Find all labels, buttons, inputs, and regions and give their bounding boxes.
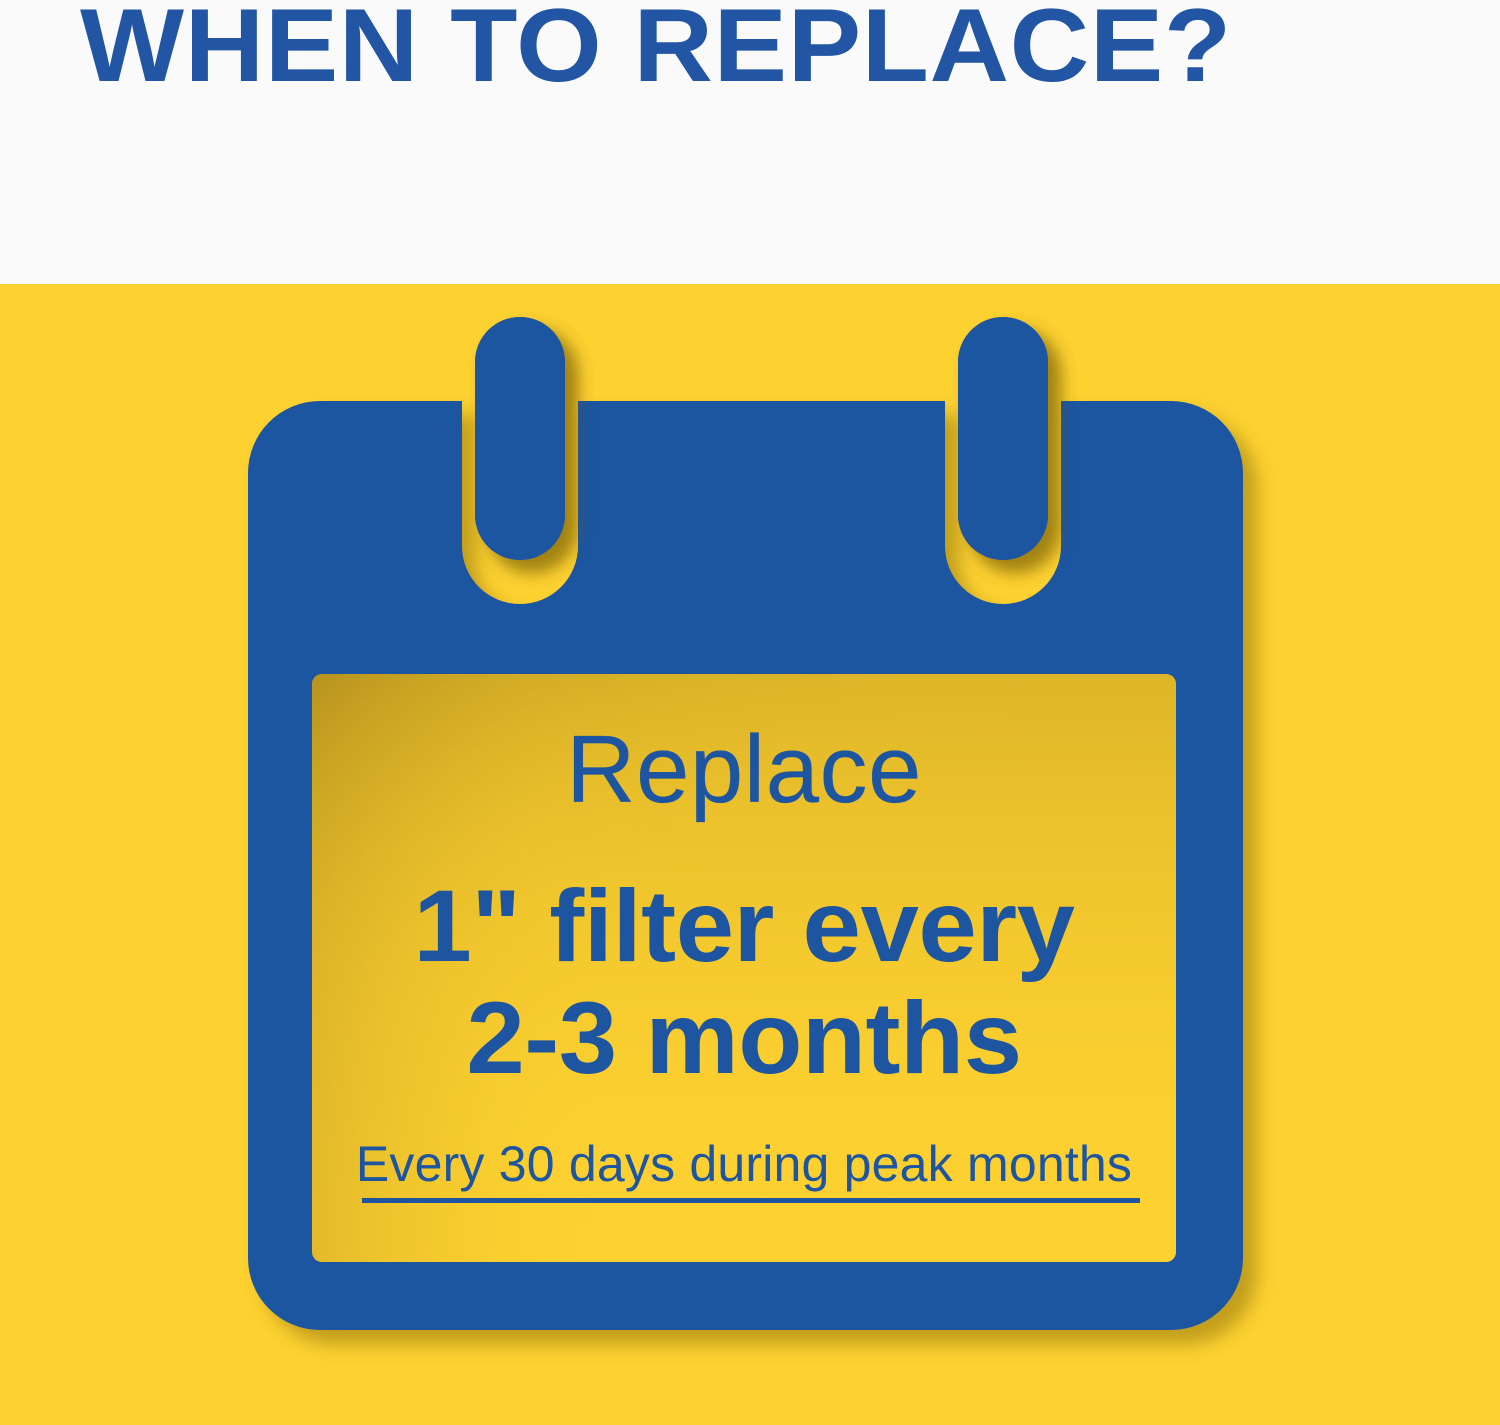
calendar-ring-left [475, 317, 565, 560]
calendar-page [312, 674, 1176, 1262]
page-title: WHEN TO REPLACE? [80, 0, 1232, 94]
calendar-ring-right [958, 317, 1048, 560]
infographic-root: WHEN TO REPLACE? [0, 0, 1500, 1425]
yellow-stage: Replace 1" filter every 2-3 months Every… [0, 284, 1500, 1425]
calendar-illustration: Replace 1" filter every 2-3 months Every… [0, 284, 1500, 1425]
header-band: WHEN TO REPLACE? [0, 0, 1500, 284]
calendar-icon [0, 284, 1500, 1425]
